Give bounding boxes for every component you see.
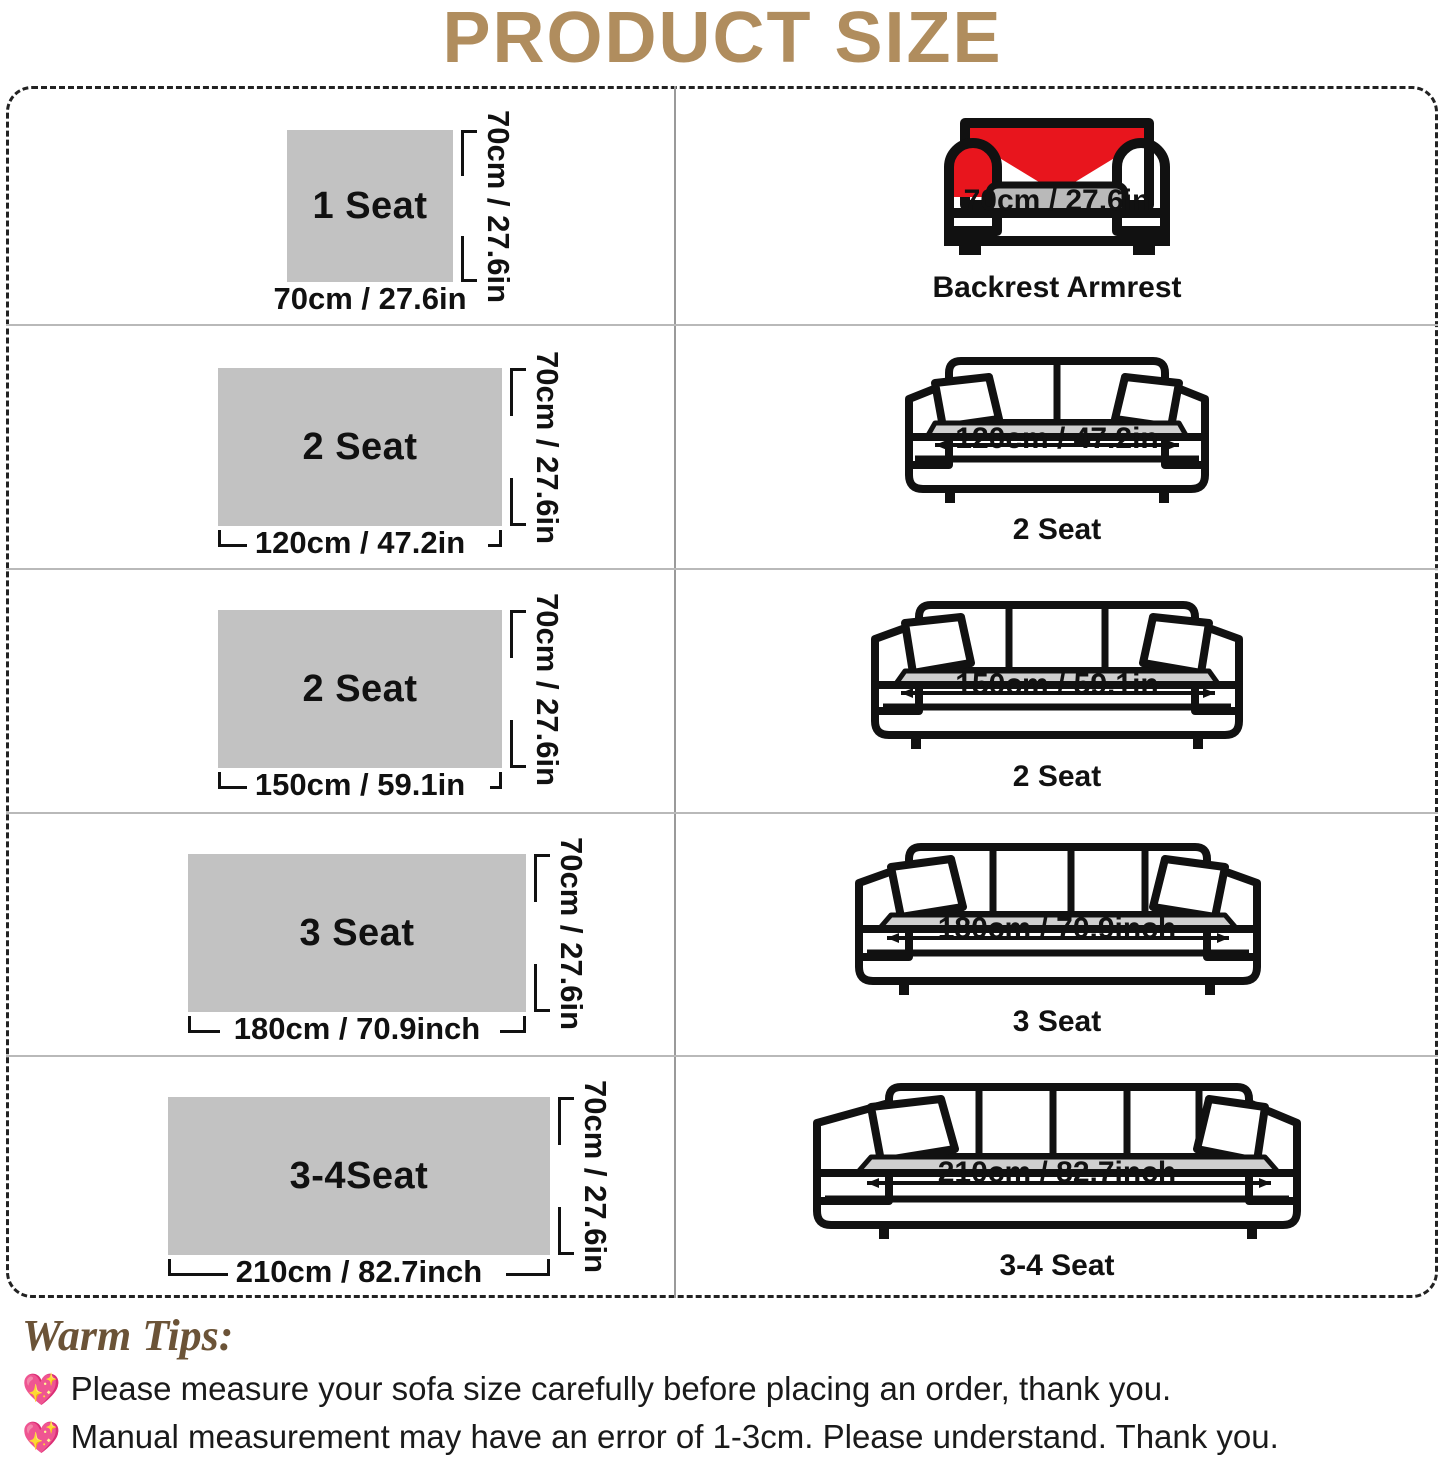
arrow-right xyxy=(1259,1178,1271,1188)
sparkling-heart-icon: 💖 xyxy=(22,1422,61,1453)
height-dimension: 70cm / 27.6in xyxy=(550,1097,646,1255)
sofa-illustration: 180cm / 70.9inch 3 Seat xyxy=(676,814,1438,1055)
size-swatch: 1 Seat 70cm / 27.6in 70cm / 27.6in xyxy=(287,130,453,282)
sofa-3seat-svg xyxy=(817,831,1297,999)
armchair-svg xyxy=(927,105,1187,265)
table-row: 3-4Seat 210cm / 82.7inch 70cm / 27.6in xyxy=(6,1057,1438,1298)
height-line-bottom xyxy=(534,964,537,1012)
left-pillow xyxy=(935,377,999,427)
illustration-cell: 180cm / 70.9inch 3 Seat xyxy=(676,814,1438,1055)
tip-item: 💖 Please measure your sofa size carefull… xyxy=(22,1367,1422,1411)
warm-tips-section: Warm Tips: 💖 Please measure your sofa si… xyxy=(22,1310,1422,1458)
swatch-callout: 2 Seat 150cm / 59.1in 70cm / 27.6in xyxy=(218,610,502,768)
width-dimension: 70cm / 27.6in xyxy=(287,282,453,316)
table-row: 2 Seat 120cm / 47.2in 70cm / 27.6in xyxy=(6,326,1438,570)
table-row: 1 Seat 70cm / 27.6in 70cm / 27.6in xyxy=(6,86,1438,326)
arrow-right xyxy=(1203,688,1215,698)
sofa-2seat-icon: 120cm / 47.2in xyxy=(857,347,1257,507)
height-dimension: 70cm / 27.6in xyxy=(502,610,598,768)
height-dimension: 70cm / 27.6in xyxy=(526,854,622,1012)
swatch-label: 2 Seat xyxy=(303,426,418,469)
left-pillow xyxy=(871,1099,955,1161)
chair-leg-left xyxy=(959,241,981,255)
arrow-right xyxy=(1217,933,1229,943)
sparkling-heart-icon: 💖 xyxy=(22,1374,61,1405)
leg-right xyxy=(1247,1225,1257,1239)
dim-bar-left xyxy=(218,786,248,789)
swatch-cell: 1 Seat 70cm / 27.6in 70cm / 27.6in xyxy=(6,86,676,324)
dim-bar-right xyxy=(506,1273,550,1276)
illustration-cell: 70cm / 27.6in Backrest Armrest xyxy=(676,86,1438,324)
height-line-top xyxy=(461,130,464,176)
height-line-bottom xyxy=(558,1207,561,1255)
arrow-left xyxy=(901,688,913,698)
sofa-caption: 2 Seat xyxy=(1013,760,1101,794)
arrow-left xyxy=(935,440,947,450)
height-bracket xyxy=(461,130,481,282)
height-label: 70cm / 27.6in xyxy=(532,589,563,790)
tip-item: 💖 Manual measurement may have an error o… xyxy=(22,1415,1422,1459)
swatch-callout: 3-4Seat 210cm / 82.7inch 70cm / 27.6in xyxy=(168,1097,550,1255)
height-label-wrap: 70cm / 27.6in xyxy=(556,854,587,1012)
right-pillow xyxy=(1115,377,1179,427)
dim-bar-right xyxy=(488,544,502,547)
armchair-icon: 70cm / 27.6in xyxy=(927,105,1187,265)
dim-bar-left xyxy=(168,1273,230,1276)
leg-right xyxy=(1205,981,1215,995)
leg-left xyxy=(945,489,955,503)
height-bracket xyxy=(534,854,554,1012)
chair-leg-right xyxy=(1133,241,1155,255)
width-dimension: 120cm / 47.2in xyxy=(218,526,502,560)
leg-left xyxy=(879,1225,889,1239)
illustration-cell: 150cm / 59.1in 2 Seat xyxy=(676,570,1438,812)
height-label-wrap: 70cm / 27.6in xyxy=(580,1097,611,1255)
width-dimension: 150cm / 59.1in xyxy=(218,768,502,802)
size-table: 1 Seat 70cm / 27.6in 70cm / 27.6in xyxy=(6,86,1438,1298)
height-dimension: 70cm / 27.6in xyxy=(502,368,598,526)
height-label-wrap: 70cm / 27.6in xyxy=(483,130,514,282)
sofa-illustration: 70cm / 27.6in Backrest Armrest xyxy=(676,86,1438,324)
size-swatch: 2 Seat 120cm / 47.2in 70cm / 27.6in xyxy=(218,368,502,526)
height-line-bottom xyxy=(510,478,513,526)
height-dimension: 70cm / 27.6in xyxy=(453,130,549,282)
table-row: 3 Seat 180cm / 70.9inch 70cm / 27.6in xyxy=(6,814,1438,1057)
leg-left xyxy=(911,735,921,749)
sofa-3cushion-icon: 150cm / 59.1in xyxy=(837,589,1277,754)
leg-right xyxy=(1193,735,1203,749)
arrow-left xyxy=(887,933,899,943)
swatch-label: 2 Seat xyxy=(303,668,418,711)
sofa-caption: 3 Seat xyxy=(1013,1005,1101,1039)
sofa-illustration: 210cm / 82.7inch 3-4 Seat xyxy=(676,1057,1438,1298)
swatch-callout: 1 Seat 70cm / 27.6in 70cm / 27.6in xyxy=(287,130,453,282)
swatch-cell: 3-4Seat 210cm / 82.7inch 70cm / 27.6in xyxy=(6,1057,676,1298)
page-title: PRODUCT SIZE xyxy=(0,0,1445,80)
arrow-left xyxy=(867,1178,879,1188)
swatch-callout: 3 Seat 180cm / 70.9inch 70cm / 27.6in xyxy=(188,854,526,1012)
swatch-cell: 2 Seat 120cm / 47.2in 70cm / 27.6in xyxy=(6,326,676,568)
sofa-illustration: 120cm / 47.2in 2 Seat xyxy=(676,326,1438,568)
width-label: 150cm / 59.1in xyxy=(247,768,473,802)
swatch-callout: 2 Seat 120cm / 47.2in 70cm / 27.6in xyxy=(218,368,502,526)
height-line-top xyxy=(534,854,537,902)
width-label: 120cm / 47.2in xyxy=(247,526,473,560)
swatch-cell: 2 Seat 150cm / 59.1in 70cm / 27.6in xyxy=(6,570,676,812)
height-line-bottom xyxy=(461,236,464,282)
sofa-caption: 2 Seat xyxy=(1013,513,1101,547)
right-pillow xyxy=(1143,617,1209,673)
arrow-right xyxy=(1167,440,1179,450)
sofa-4seat-svg xyxy=(785,1073,1330,1243)
sofa-4seat-icon: 210cm / 82.7inch xyxy=(785,1073,1330,1243)
tip-text: Please measure your sofa size carefully … xyxy=(71,1367,1172,1411)
height-label-wrap: 70cm / 27.6in xyxy=(532,368,563,526)
height-line-top xyxy=(558,1097,561,1145)
height-line-bottom xyxy=(510,720,513,768)
right-pillow xyxy=(1197,1099,1265,1161)
left-pillow xyxy=(905,617,971,673)
leg-right xyxy=(1159,489,1169,503)
height-label: 70cm / 27.6in xyxy=(532,347,563,548)
dim-bar-left xyxy=(188,1030,220,1033)
height-line-top xyxy=(510,368,513,416)
width-label: 70cm / 27.6in xyxy=(266,282,475,316)
sofa-caption: 3-4 Seat xyxy=(999,1249,1114,1283)
table-row: 2 Seat 150cm / 59.1in 70cm / 27.6in xyxy=(6,570,1438,814)
width-dimension: 180cm / 70.9inch xyxy=(188,1012,526,1046)
illustration-cell: 120cm / 47.2in 2 Seat xyxy=(676,326,1438,568)
size-swatch: 2 Seat 150cm / 59.1in 70cm / 27.6in xyxy=(218,610,502,768)
swatch-cell: 3 Seat 180cm / 70.9inch 70cm / 27.6in xyxy=(6,814,676,1055)
height-label-wrap: 70cm / 27.6in xyxy=(532,610,563,768)
sofa-3cushion-svg xyxy=(837,589,1277,754)
sofa-caption: Backrest Armrest xyxy=(932,271,1181,305)
height-line-top xyxy=(510,610,513,658)
height-bracket xyxy=(558,1097,578,1255)
warm-tips-heading: Warm Tips: xyxy=(22,1310,1422,1361)
size-swatch: 3-4Seat 210cm / 82.7inch 70cm / 27.6in xyxy=(168,1097,550,1255)
tip-text: Manual measurement may have an error of … xyxy=(71,1415,1279,1459)
swatch-label: 3 Seat xyxy=(300,912,415,955)
width-label: 180cm / 70.9inch xyxy=(226,1012,488,1046)
swatch-label: 1 Seat xyxy=(313,185,428,228)
width-label: 210cm / 82.7inch xyxy=(228,1255,490,1289)
sofa-illustration: 150cm / 59.1in 2 Seat xyxy=(676,570,1438,812)
sofa-3seat-icon: 180cm / 70.9inch xyxy=(817,831,1297,999)
height-label: 70cm / 27.6in xyxy=(580,1076,611,1277)
right-pillow xyxy=(1153,859,1225,917)
height-bracket xyxy=(510,610,530,768)
illustration-cell: 210cm / 82.7inch 3-4 Seat xyxy=(676,1057,1438,1298)
dim-bar-right xyxy=(500,1030,526,1033)
height-label: 70cm / 27.6in xyxy=(556,833,587,1034)
sofa-2seat-svg xyxy=(857,347,1257,507)
dim-bar-right xyxy=(490,786,502,789)
size-swatch: 3 Seat 180cm / 70.9inch 70cm / 27.6in xyxy=(188,854,526,1012)
swatch-label: 3-4Seat xyxy=(290,1155,429,1198)
height-bracket xyxy=(510,368,530,526)
width-dimension: 210cm / 82.7inch xyxy=(168,1255,550,1289)
leg-left xyxy=(899,981,909,995)
height-label: 70cm / 27.6in xyxy=(483,106,514,307)
left-pillow xyxy=(891,859,963,917)
